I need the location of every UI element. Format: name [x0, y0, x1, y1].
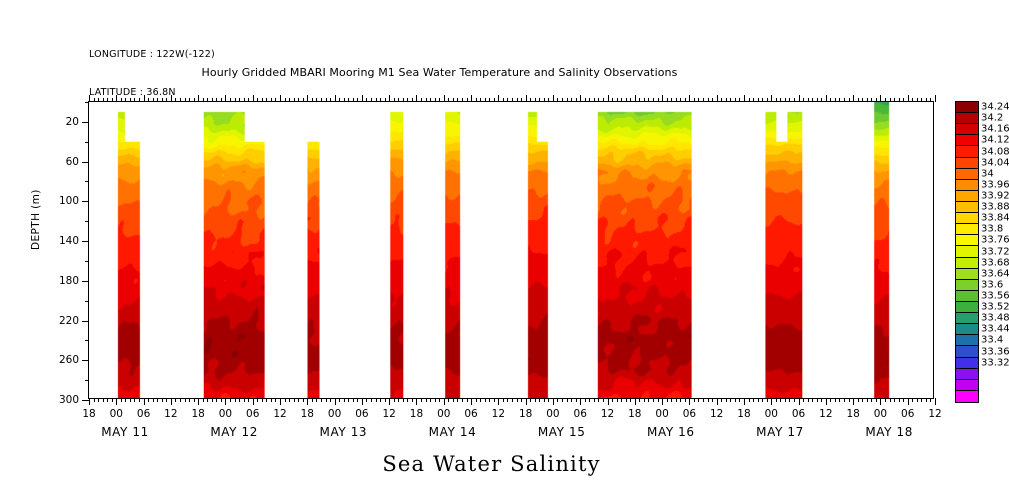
x-tick-top-minor	[885, 98, 886, 102]
x-tick-label: 00	[874, 408, 887, 420]
x-tick-minor	[321, 398, 322, 402]
x-tick-top-minor	[294, 98, 295, 102]
x-tick-top-minor	[639, 98, 640, 102]
x-tick-top-minor	[876, 98, 877, 102]
x-tick-top-minor	[134, 98, 135, 102]
colorbar-tick-label: 33.64	[981, 268, 1009, 279]
x-tick-top-minor	[708, 98, 709, 102]
x-day-label: MAY 12	[210, 425, 258, 439]
x-tick-top	[253, 95, 254, 102]
x-tick-minor	[385, 398, 386, 402]
x-tick-top-minor	[189, 98, 190, 102]
x-tick-label: 12	[601, 408, 614, 420]
x-tick-label: 12	[492, 408, 505, 420]
x-tick-minor	[153, 398, 154, 402]
colorbar-band	[956, 335, 978, 346]
x-tick-minor	[894, 398, 895, 402]
x-tick-top-minor	[530, 98, 531, 102]
x-tick-minor	[98, 398, 99, 402]
x-tick-top-minor	[735, 98, 736, 102]
x-tick-minor	[867, 398, 868, 402]
x-tick-minor	[921, 398, 922, 402]
x-tick-minor	[467, 398, 468, 402]
x-tick-minor	[557, 398, 558, 402]
x-tick-label: 06	[464, 408, 477, 420]
x-tick-minor	[812, 398, 813, 402]
x-tick-minor	[216, 398, 217, 402]
x-tick-top	[307, 95, 308, 102]
chart-title-text: Hourly Gridded MBARI Mooring M1 Sea Wate…	[202, 66, 678, 79]
x-tick-minor	[808, 398, 809, 402]
x-tick-minor	[485, 398, 486, 402]
x-tick-minor	[548, 398, 549, 402]
x-tick-minor	[294, 398, 295, 402]
x-tick-minor	[121, 398, 122, 402]
x-tick-top-minor	[794, 98, 795, 102]
x-tick-minor	[230, 398, 231, 402]
x-tick-top-minor	[576, 98, 577, 102]
x-tick-minor	[917, 398, 918, 402]
x-tick-top-minor	[849, 98, 850, 102]
x-tick-minor	[316, 398, 317, 402]
x-day-label: MAY 16	[647, 425, 695, 439]
x-tick-top-minor	[112, 98, 113, 102]
x-tick-minor	[462, 398, 463, 402]
x-tick-major	[744, 398, 745, 405]
x-tick-minor	[194, 398, 195, 402]
colorbar-band	[956, 324, 978, 335]
x-day-label: MAY 11	[101, 425, 149, 439]
x-tick-top-minor	[521, 98, 522, 102]
x-tick-minor	[371, 398, 372, 402]
x-tick-minor	[512, 398, 513, 402]
x-tick-top-minor	[844, 98, 845, 102]
x-tick-top-minor	[626, 98, 627, 102]
x-tick-minor	[203, 398, 204, 402]
x-tick-minor	[626, 398, 627, 402]
colorbar-band	[956, 391, 978, 402]
x-tick-major	[526, 398, 527, 405]
x-tick-top-minor	[107, 98, 108, 102]
x-tick-minor	[680, 398, 681, 402]
x-tick-top-minor	[812, 98, 813, 102]
x-tick-minor	[890, 398, 891, 402]
x-tick-major	[280, 398, 281, 405]
x-tick-minor	[903, 398, 904, 402]
x-tick-minor	[730, 398, 731, 402]
x-tick-top-minor	[548, 98, 549, 102]
x-tick-top-minor	[644, 98, 645, 102]
x-tick-minor	[330, 398, 331, 402]
x-tick-minor	[207, 398, 208, 402]
x-tick-label: 18	[846, 408, 859, 420]
x-tick-minor	[794, 398, 795, 402]
x-tick-minor	[435, 398, 436, 402]
x-tick-top-minor	[157, 98, 158, 102]
x-tick-minor	[180, 398, 181, 402]
x-tick-minor	[708, 398, 709, 402]
x-day-label: MAY 15	[538, 425, 586, 439]
colorbar-tick-label: 33.6	[981, 279, 1003, 290]
x-tick-top-minor	[589, 98, 590, 102]
x-tick-top-minor	[667, 98, 668, 102]
x-tick-label: 12	[383, 408, 396, 420]
x-tick-top-minor	[485, 98, 486, 102]
x-tick-top	[471, 95, 472, 102]
x-tick-top-minor	[453, 98, 454, 102]
x-tick-minor	[871, 398, 872, 402]
x-tick-top-minor	[262, 98, 263, 102]
x-tick-minor	[849, 398, 850, 402]
y-tick-major	[82, 281, 89, 282]
colorbar-tick-label: 33.92	[981, 191, 1009, 202]
x-tick-minor	[521, 398, 522, 402]
colorbar-band	[956, 102, 978, 113]
x-tick-minor	[749, 398, 750, 402]
x-tick-top	[553, 95, 554, 102]
x-tick-minor	[430, 398, 431, 402]
x-tick-top-minor	[630, 98, 631, 102]
x-tick-top	[799, 95, 800, 102]
x-tick-top-minor	[780, 98, 781, 102]
x-tick-major	[89, 398, 90, 405]
colorbar-tick-label: 34	[981, 168, 994, 179]
x-tick-top-minor	[257, 98, 258, 102]
x-tick-minor	[139, 398, 140, 402]
x-tick-major	[362, 398, 363, 405]
colorbar-tick-label: 34.04	[981, 157, 1009, 168]
x-tick-top-minor	[412, 98, 413, 102]
x-tick-major	[853, 398, 854, 405]
x-tick-top	[608, 95, 609, 102]
x-tick-label: 18	[191, 408, 204, 420]
x-tick-top-minor	[403, 98, 404, 102]
x-tick-minor	[421, 398, 422, 402]
x-tick-minor	[698, 398, 699, 402]
x-tick-top-minor	[658, 98, 659, 102]
x-tick-minor	[221, 398, 222, 402]
x-tick-minor	[103, 398, 104, 402]
x-tick-minor	[185, 398, 186, 402]
x-tick-minor	[376, 398, 377, 402]
x-tick-top-minor	[494, 98, 495, 102]
x-tick-top-minor	[285, 98, 286, 102]
x-tick-minor	[366, 398, 367, 402]
colorbar-band	[956, 113, 978, 124]
colorbar-band	[956, 291, 978, 302]
x-tick-label: 00	[219, 408, 232, 420]
x-tick-minor	[489, 398, 490, 402]
x-tick-minor	[476, 398, 477, 402]
x-tick-minor	[344, 398, 345, 402]
x-tick-top-minor	[535, 98, 536, 102]
x-tick-top-minor	[339, 98, 340, 102]
x-tick-top-minor	[376, 98, 377, 102]
x-day-label: MAY 17	[756, 425, 804, 439]
x-tick-label: 00	[437, 408, 450, 420]
x-tick-minor	[739, 398, 740, 402]
x-tick-top-minor	[275, 98, 276, 102]
y-tick-major	[82, 360, 89, 361]
x-tick-top-minor	[680, 98, 681, 102]
x-tick-minor	[507, 398, 508, 402]
x-tick-minor	[912, 398, 913, 402]
x-tick-major	[935, 398, 936, 405]
x-tick-top-minor	[312, 98, 313, 102]
x-tick-top-minor	[448, 98, 449, 102]
x-tick-minor	[776, 398, 777, 402]
colorbar-tick-label: 33.76	[981, 235, 1009, 246]
colorbar-band	[956, 258, 978, 269]
colorbar-band	[956, 124, 978, 135]
x-tick-top-minor	[803, 98, 804, 102]
x-tick-minor	[339, 398, 340, 402]
x-tick-top	[935, 95, 936, 102]
x-tick-major	[335, 398, 336, 405]
x-tick-minor	[603, 398, 604, 402]
x-tick-minor	[835, 398, 836, 402]
x-tick-label: 06	[355, 408, 368, 420]
y-tick-label: 140	[59, 235, 79, 247]
x-tick-minor	[271, 398, 272, 402]
x-tick-label: 06	[137, 408, 150, 420]
x-tick-minor	[653, 398, 654, 402]
x-tick-top-minor	[248, 98, 249, 102]
x-tick-minor	[899, 398, 900, 402]
x-tick-label: 12	[273, 408, 286, 420]
x-tick-top-minor	[98, 98, 99, 102]
x-tick-minor	[503, 398, 504, 402]
x-tick-top	[225, 95, 226, 102]
x-day-label: MAY 13	[320, 425, 368, 439]
colorbar-tick-label: 33.88	[981, 202, 1009, 213]
x-tick-minor	[239, 398, 240, 402]
x-tick-top-minor	[726, 98, 727, 102]
x-tick-top-minor	[421, 98, 422, 102]
x-tick-label: 06	[792, 408, 805, 420]
x-tick-top-minor	[671, 98, 672, 102]
x-tick-minor	[753, 398, 754, 402]
x-tick-label: 12	[928, 408, 941, 420]
y-tick-label: 220	[59, 315, 79, 327]
x-tick-minor	[266, 398, 267, 402]
x-tick-minor	[348, 398, 349, 402]
x-tick-top-minor	[125, 98, 126, 102]
x-tick-top-minor	[621, 98, 622, 102]
x-tick-top-minor	[703, 98, 704, 102]
x-tick-minor	[175, 398, 176, 402]
x-tick-major	[498, 398, 499, 405]
colorbar-band	[956, 202, 978, 213]
x-tick-minor	[398, 398, 399, 402]
x-tick-top-minor	[594, 98, 595, 102]
x-tick-top-minor	[239, 98, 240, 102]
y-tick-major	[82, 162, 89, 163]
x-tick-top-minor	[194, 98, 195, 102]
colorbar-band	[956, 224, 978, 235]
x-tick-label: 06	[574, 408, 587, 420]
x-tick-minor	[621, 398, 622, 402]
x-tick-top-minor	[103, 98, 104, 102]
x-tick-top-minor	[244, 98, 245, 102]
y-tick-minor	[85, 102, 89, 103]
x-tick-minor	[821, 398, 822, 402]
x-tick-top-minor	[917, 98, 918, 102]
x-tick-minor	[712, 398, 713, 402]
x-tick-label: 12	[164, 408, 177, 420]
colorbar-band	[956, 246, 978, 257]
x-tick-top-minor	[153, 98, 154, 102]
x-tick-minor	[212, 398, 213, 402]
x-tick-top-minor	[271, 98, 272, 102]
y-tick-major	[82, 122, 89, 123]
x-tick-label: 18	[82, 408, 95, 420]
colorbar-tick-label: 33.4	[981, 335, 1003, 346]
x-tick-top-minor	[216, 98, 217, 102]
colorbar	[955, 101, 979, 403]
y-tick-label: 260	[59, 354, 79, 366]
x-tick-top-minor	[721, 98, 722, 102]
colorbar-tick-label: 33.44	[981, 324, 1009, 335]
x-tick-top-minor	[698, 98, 699, 102]
x-tick-minor	[494, 398, 495, 402]
x-tick-top-minor	[557, 98, 558, 102]
x-tick-minor	[235, 398, 236, 402]
x-tick-minor	[862, 398, 863, 402]
x-tick-top-minor	[212, 98, 213, 102]
x-tick-top-minor	[439, 98, 440, 102]
x-tick-minor	[735, 398, 736, 402]
figure-caption: Sea Water Salinity	[0, 452, 1009, 476]
x-tick-top-minor	[562, 98, 563, 102]
x-tick-top-minor	[544, 98, 545, 102]
x-tick-top-minor	[121, 98, 122, 102]
x-tick-minor	[257, 398, 258, 402]
y-tick-major	[82, 321, 89, 322]
x-tick-label: 18	[410, 408, 423, 420]
x-tick-major	[662, 398, 663, 405]
x-tick-major	[225, 398, 226, 405]
x-tick-top-minor	[539, 98, 540, 102]
x-tick-top-minor	[712, 98, 713, 102]
x-tick-top-minor	[503, 98, 504, 102]
plot-area: 2060100140180220260300 18000612180006121…	[88, 101, 934, 399]
x-tick-minor	[644, 398, 645, 402]
x-tick-minor	[407, 398, 408, 402]
x-tick-major	[171, 398, 172, 405]
x-tick-top-minor	[371, 98, 372, 102]
x-tick-minor	[148, 398, 149, 402]
x-tick-top	[580, 95, 581, 102]
x-tick-top-minor	[567, 98, 568, 102]
x-tick-top-minor	[357, 98, 358, 102]
x-tick-minor	[630, 398, 631, 402]
figure-caption-text: Sea Water Salinity	[382, 452, 600, 476]
x-tick-top-minor	[344, 98, 345, 102]
x-tick-top-minor	[298, 98, 299, 102]
x-tick-top-minor	[366, 98, 367, 102]
x-tick-top-minor	[180, 98, 181, 102]
x-tick-minor	[926, 398, 927, 402]
y-tick-label: 60	[66, 156, 79, 168]
x-tick-top-minor	[839, 98, 840, 102]
x-tick-top-minor	[162, 98, 163, 102]
x-tick-top	[744, 95, 745, 102]
x-tick-top-minor	[139, 98, 140, 102]
x-tick-label: 00	[546, 408, 559, 420]
x-tick-minor	[885, 398, 886, 402]
x-tick-top	[389, 95, 390, 102]
colorbar-band	[956, 302, 978, 313]
x-tick-major	[635, 398, 636, 405]
x-tick-minor	[107, 398, 108, 402]
chart-title: Hourly Gridded MBARI Mooring M1 Sea Wate…	[0, 66, 1009, 79]
x-tick-top	[416, 95, 417, 102]
x-tick-minor	[671, 398, 672, 402]
x-tick-top-minor	[235, 98, 236, 102]
x-tick-minor	[125, 398, 126, 402]
x-tick-top-minor	[762, 98, 763, 102]
colorbar-tick-label: 33.96	[981, 179, 1009, 190]
y-tick-minor	[85, 142, 89, 143]
x-tick-top-minor	[507, 98, 508, 102]
x-tick-minor	[439, 398, 440, 402]
x-tick-minor	[157, 398, 158, 402]
x-tick-top-minor	[617, 98, 618, 102]
x-tick-major	[717, 398, 718, 405]
x-tick-minor	[803, 398, 804, 402]
x-tick-label: 06	[901, 408, 914, 420]
x-tick-minor	[858, 398, 859, 402]
x-tick-minor	[94, 398, 95, 402]
x-tick-major	[253, 398, 254, 405]
x-tick-minor	[726, 398, 727, 402]
colorbar-tick-label: 34.12	[981, 135, 1009, 146]
x-tick-major	[444, 398, 445, 405]
x-tick-top	[689, 95, 690, 102]
x-tick-minor	[817, 398, 818, 402]
colorbar-band	[956, 180, 978, 191]
x-tick-top-minor	[480, 98, 481, 102]
x-tick-major	[307, 398, 308, 405]
x-tick-top-minor	[326, 98, 327, 102]
x-tick-minor	[658, 398, 659, 402]
x-tick-top-minor	[148, 98, 149, 102]
x-tick-major	[580, 398, 581, 405]
x-tick-top-minor	[871, 98, 872, 102]
x-tick-label: 18	[301, 408, 314, 420]
x-tick-minor	[767, 398, 768, 402]
x-tick-top-minor	[457, 98, 458, 102]
x-tick-minor	[166, 398, 167, 402]
x-tick-minor	[426, 398, 427, 402]
colorbar-band	[956, 146, 978, 157]
x-tick-top-minor	[330, 98, 331, 102]
colorbar-tick-label: 34.16	[981, 124, 1009, 135]
x-tick-minor	[780, 398, 781, 402]
x-tick-minor	[289, 398, 290, 402]
x-tick-minor	[785, 398, 786, 402]
x-tick-top	[335, 95, 336, 102]
colorbar-tick-label: 34.2	[981, 113, 1003, 124]
y-tick-label: 100	[59, 195, 79, 207]
colorbar-tick-label: 33.36	[981, 346, 1009, 357]
x-tick-top	[908, 95, 909, 102]
colorbar-band	[956, 346, 978, 357]
x-tick-minor	[285, 398, 286, 402]
x-tick-top-minor	[175, 98, 176, 102]
x-tick-top	[717, 95, 718, 102]
